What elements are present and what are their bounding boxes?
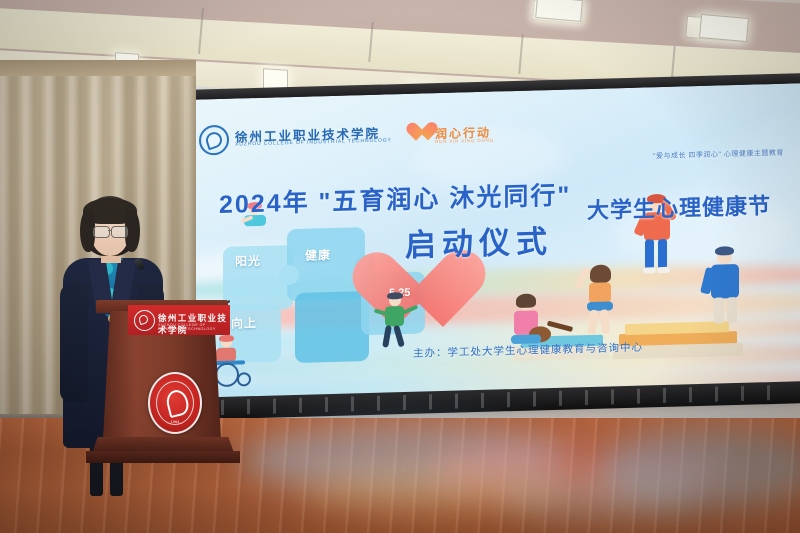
school-seal-icon xyxy=(134,310,155,331)
arm-left xyxy=(60,282,88,402)
heart-icon xyxy=(405,123,427,143)
ceiling-panel-light-icon xyxy=(535,0,583,22)
puzzle-label-health: 健康 xyxy=(305,246,331,264)
screen-title-sub: 启动仪式 xyxy=(405,216,553,265)
screen-title-main-tail: 大学生心理健康节 xyxy=(587,188,771,225)
curtain-rail xyxy=(0,60,196,76)
seal-year: 1964 xyxy=(150,419,200,424)
podium-banner-text-en: XUZHOU COLLEGE OF INDUSTRIAL TECHNOLOGY xyxy=(158,323,230,331)
photo-scene: 徐州工业职业技术学院 XUZHOU COLLEGE OF INDUSTRIAL … xyxy=(0,0,800,533)
podium-school-seal-icon: 1964 xyxy=(148,372,202,434)
puzzle-label-upward: 向上 xyxy=(231,314,257,332)
led-screen: 徐州工业职业技术学院 XUZHOU COLLEGE OF INDUSTRIAL … xyxy=(183,83,800,412)
eyeglasses-bridge xyxy=(108,230,112,231)
podium-banner: 徐州工业职业技术学院 XUZHOU COLLEGE OF INDUSTRIAL … xyxy=(128,305,230,335)
floor-reflection xyxy=(500,476,700,520)
podium-plinth xyxy=(86,451,240,463)
eyeglasses-icon xyxy=(111,226,128,238)
eyeglasses-icon xyxy=(93,226,110,238)
puzzle-label-sunshine: 阳光 xyxy=(235,252,261,270)
ceiling-panel-light-icon xyxy=(699,14,749,42)
